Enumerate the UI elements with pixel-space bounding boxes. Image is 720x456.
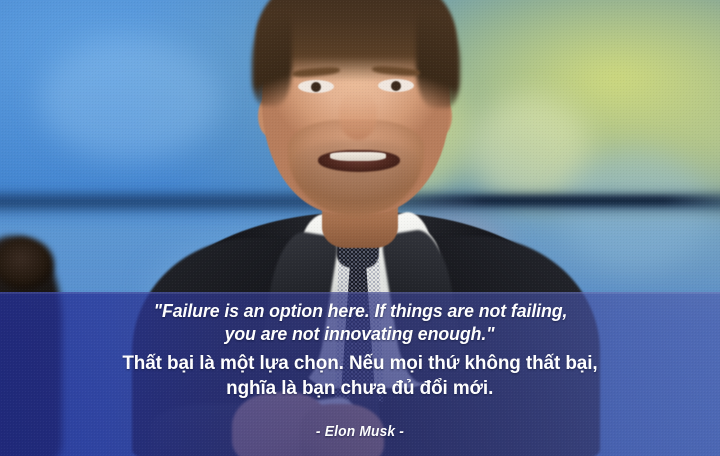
quote-vietnamese-line-2: nghĩa là bạn chưa đủ đổi mới. <box>226 376 493 401</box>
pupil-left <box>311 82 321 92</box>
quote-english-line-2: you are not innovating enough." <box>225 322 495 345</box>
quote-vietnamese-line-1: Thất bại là một lựa chọn. Nếu mọi thứ kh… <box>122 351 597 376</box>
nose <box>339 92 377 140</box>
quote-card: "Failure is an option here. If things ar… <box>0 0 720 456</box>
quote-attribution: - Elon Musk - <box>18 424 702 440</box>
quote-english-line-1: "Failure is an option here. If things ar… <box>153 299 567 322</box>
teeth <box>330 152 386 161</box>
pupil-right <box>391 81 401 91</box>
